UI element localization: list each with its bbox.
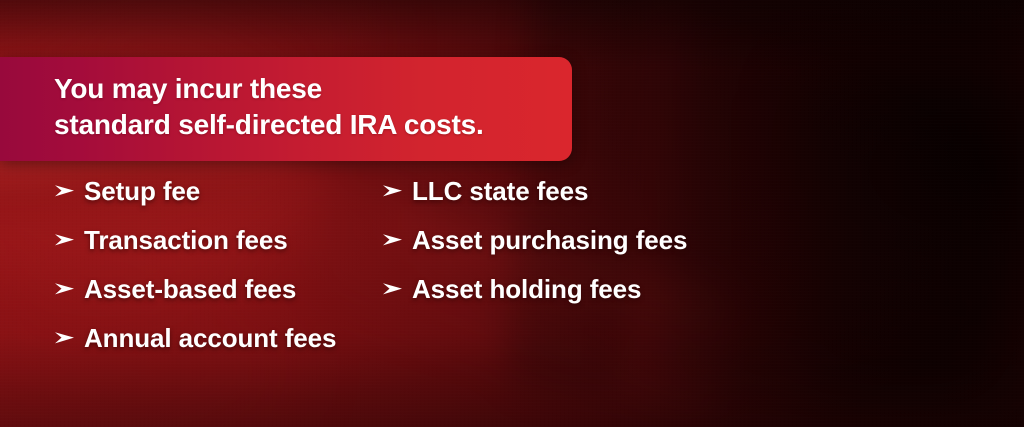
list-item-label: Asset purchasing fees (412, 225, 687, 255)
arrowhead-right-icon (382, 281, 412, 297)
headline-banner: You may incur these standard self-direct… (0, 57, 572, 161)
fee-list-right-column: LLC state fees Asset purchasing fees Ass… (370, 176, 970, 372)
list-item: Asset holding fees (382, 274, 970, 323)
arrowhead-right-icon (54, 183, 84, 199)
list-item-label: Asset holding fees (412, 274, 641, 304)
list-item: Annual account fees (54, 323, 370, 372)
fee-list-left-column: Setup fee Transaction fees Asset-based f… (0, 176, 370, 372)
list-item-label: Transaction fees (84, 225, 288, 255)
fee-lists: Setup fee Transaction fees Asset-based f… (0, 176, 1024, 372)
list-item-label: Setup fee (84, 176, 200, 206)
list-item-label: Asset-based fees (84, 274, 296, 304)
list-item-label: Annual account fees (84, 323, 336, 353)
arrowhead-right-icon (54, 281, 84, 297)
list-item: Asset purchasing fees (382, 225, 970, 274)
list-item: LLC state fees (382, 176, 970, 225)
list-item-label: LLC state fees (412, 176, 588, 206)
banner-title: You may incur these standard self-direct… (54, 71, 572, 143)
arrowhead-right-icon (382, 232, 412, 248)
infographic-canvas: You may incur these standard self-direct… (0, 0, 1024, 427)
arrowhead-right-icon (382, 183, 412, 199)
list-item: Transaction fees (54, 225, 370, 274)
arrowhead-right-icon (54, 232, 84, 248)
arrowhead-right-icon (54, 330, 84, 346)
list-item: Setup fee (54, 176, 370, 225)
list-item: Asset-based fees (54, 274, 370, 323)
